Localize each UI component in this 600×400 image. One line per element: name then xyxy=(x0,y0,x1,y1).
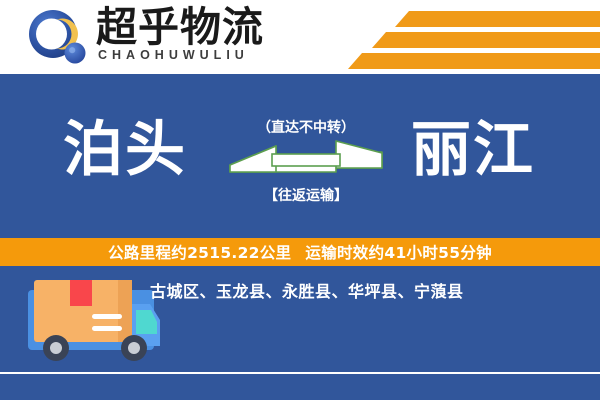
direct-service-note: （直达不中转） xyxy=(228,117,384,137)
route-row: 泊头 （直达不中转） 【往返运输】 丽江 xyxy=(0,107,600,217)
coverage-districts: 古城区、玉龙县、永胜县、华坪县、宁蒗县 xyxy=(150,276,570,304)
bottom-divider xyxy=(0,372,600,374)
route-arrow-group: （直达不中转） 【往返运输】 xyxy=(228,107,384,217)
destination-city: 丽江 xyxy=(378,107,568,193)
brand-name-cn: 超乎物流 xyxy=(96,5,276,49)
stripe-middle xyxy=(372,32,600,48)
brand-name-pinyin: CHAOHUWULIU xyxy=(98,47,288,63)
duration-label: 运输时效约41小时55分钟 xyxy=(305,241,492,263)
distance-label: 公路里程约2515.22公里 xyxy=(108,241,291,263)
districts-label: 古城区、玉龙县、永胜县、华坪县、宁蒗县 xyxy=(150,278,464,302)
delivery-truck-icon xyxy=(18,272,168,372)
double-headed-arrow-icon xyxy=(228,139,384,179)
stripe-top xyxy=(395,11,600,27)
stripe-bottom xyxy=(348,53,600,69)
distance-duration-bar: 公路里程约2515.22公里 运输时效约41小时55分钟 xyxy=(0,238,600,266)
decorative-stripes xyxy=(340,0,600,74)
main-panel: 泊头 （直达不中转） 【往返运输】 丽江 公路里程约2515.22公里 xyxy=(0,74,600,400)
roundtrip-note: 【往返运输】 xyxy=(228,185,384,205)
circle-crescent-logo-icon xyxy=(27,9,89,67)
header-bar: 超乎物流 CHAOHUWULIU xyxy=(0,0,600,74)
logistics-route-banner: 超乎物流 CHAOHUWULIU 泊头 （直达不中转） xyxy=(0,0,600,400)
origin-city: 泊头 xyxy=(30,107,220,193)
